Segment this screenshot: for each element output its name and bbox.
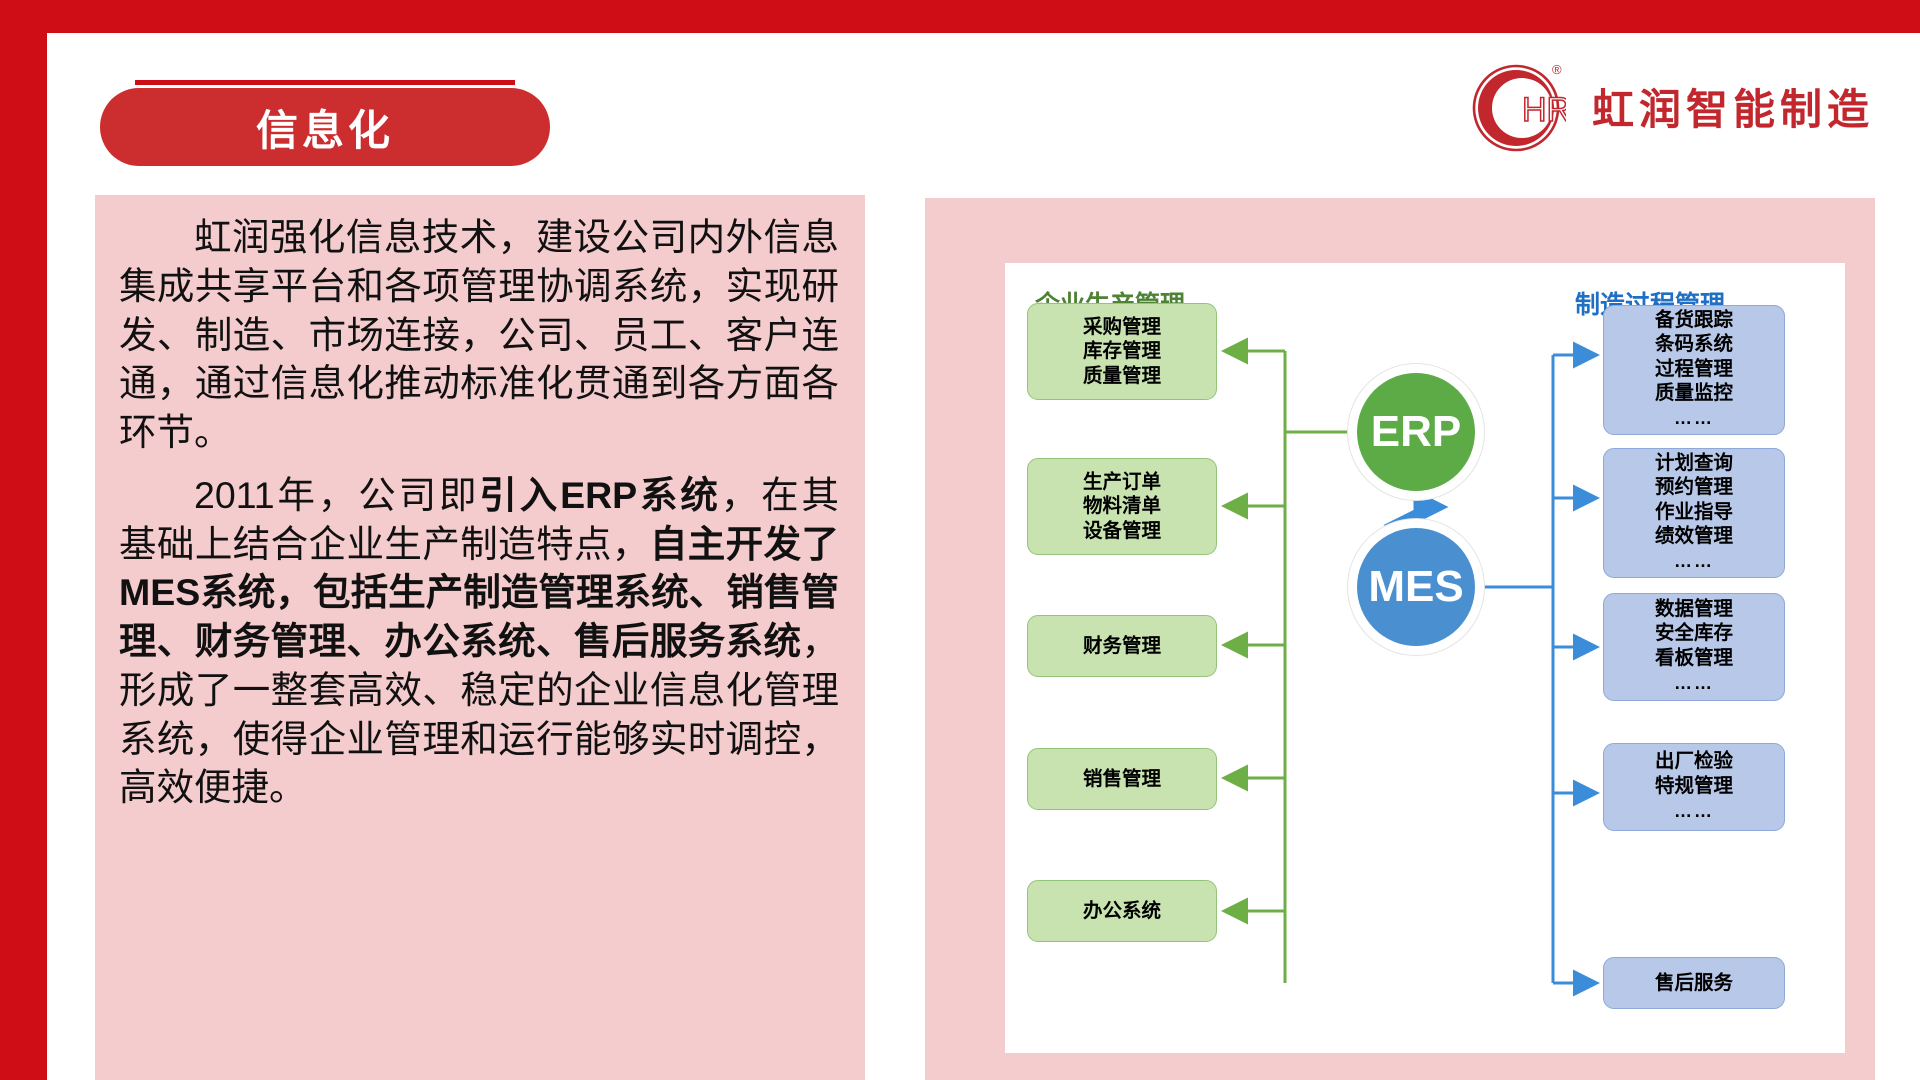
description-panel: 虹润强化信息技术，建设公司内外信息集成共享平台和各项管理协调系统，实现研发、制造… [95,195,865,1080]
box-line: 预约管理 [1655,475,1733,499]
box-line: 看板管理 [1655,646,1733,670]
left-box-5[interactable]: 办公系统 [1027,880,1217,942]
box-line: 质量监控 [1655,381,1733,405]
frame-top-bar [0,0,1920,33]
svg-text:®: ® [1552,62,1562,77]
box-line: 售后服务 [1655,971,1733,995]
box-line: 绩效管理 [1655,524,1733,548]
box-line: 采购管理 [1083,315,1161,339]
mes-hub-circle[interactable]: MES [1357,528,1475,646]
page-title: 信息化 [256,97,394,158]
section-title-pill: 信息化 [100,88,550,166]
company-logo: HR HR ® 虹润智能制造 [1470,58,1874,154]
title-rule-top [135,80,515,85]
box-line: 出厂检验 [1655,749,1733,773]
left-box-2[interactable]: 生产订单物料清单设备管理 [1027,458,1217,555]
left-box-3[interactable]: 财务管理 [1027,615,1217,677]
box-ellipsis: …… [1674,548,1714,575]
box-ellipsis: …… [1674,798,1714,825]
frame-left-bar [0,0,47,1080]
right-box-3[interactable]: 数据管理安全库存看板管理…… [1603,593,1785,701]
paragraph-2-run-0: 2011年，公司即 [194,474,479,516]
diagram-panel: 企业生产管理 制造过程管理 采购管理库存管理质量管理 生产订单物料清单设备管理 … [925,198,1875,1080]
box-line: 库存管理 [1083,339,1161,363]
right-box-2[interactable]: 计划查询预约管理作业指导绩效管理…… [1603,448,1785,578]
box-line: 物料清单 [1083,494,1161,518]
left-box-4[interactable]: 销售管理 [1027,748,1217,810]
box-line: 计划查询 [1655,451,1733,475]
box-line: 办公系统 [1083,899,1161,923]
box-line: 设备管理 [1083,519,1161,543]
box-ellipsis: …… [1674,670,1714,697]
slide-root: 信息化 HR HR ® 虹润智能制造 虹润强化信息技术，建设公司内外信息集成共享… [0,0,1920,1080]
box-ellipsis: …… [1674,405,1714,432]
box-line: 特规管理 [1655,774,1733,798]
box-line: 作业指导 [1655,500,1733,524]
paragraph-2-run-1: 引入ERP系统 [479,474,720,516]
box-line: 条码系统 [1655,332,1733,356]
diagram-canvas: 企业生产管理 制造过程管理 采购管理库存管理质量管理 生产订单物料清单设备管理 … [1005,263,1845,1053]
hr-logo-icon: HR HR ® [1470,58,1566,154]
svg-text:HR: HR [1522,91,1566,129]
right-box-4[interactable]: 出厂检验特规管理…… [1603,743,1785,831]
box-line: 质量管理 [1083,364,1161,388]
box-line: 生产订单 [1083,470,1161,494]
box-line: 安全库存 [1655,621,1733,645]
box-line: 备货跟踪 [1655,308,1733,332]
left-box-1[interactable]: 采购管理库存管理质量管理 [1027,303,1217,400]
right-box-5[interactable]: 售后服务 [1603,957,1785,1009]
box-line: 销售管理 [1083,767,1161,791]
box-line: 财务管理 [1083,634,1161,658]
logo-brand-text: 虹润智能制造 [1592,76,1874,137]
box-line: 过程管理 [1655,357,1733,381]
erp-hub-circle[interactable]: ERP [1357,373,1475,491]
box-line: 数据管理 [1655,597,1733,621]
paragraph-1: 虹润强化信息技术，建设公司内外信息集成共享平台和各项管理协调系统，实现研发、制造… [119,213,839,457]
right-box-1[interactable]: 备货跟踪条码系统过程管理质量监控…… [1603,305,1785,435]
paragraph-2: 2011年，公司即引入ERP系统，在其基础上结合企业生产制造特点，自主开发了ME… [119,471,839,812]
